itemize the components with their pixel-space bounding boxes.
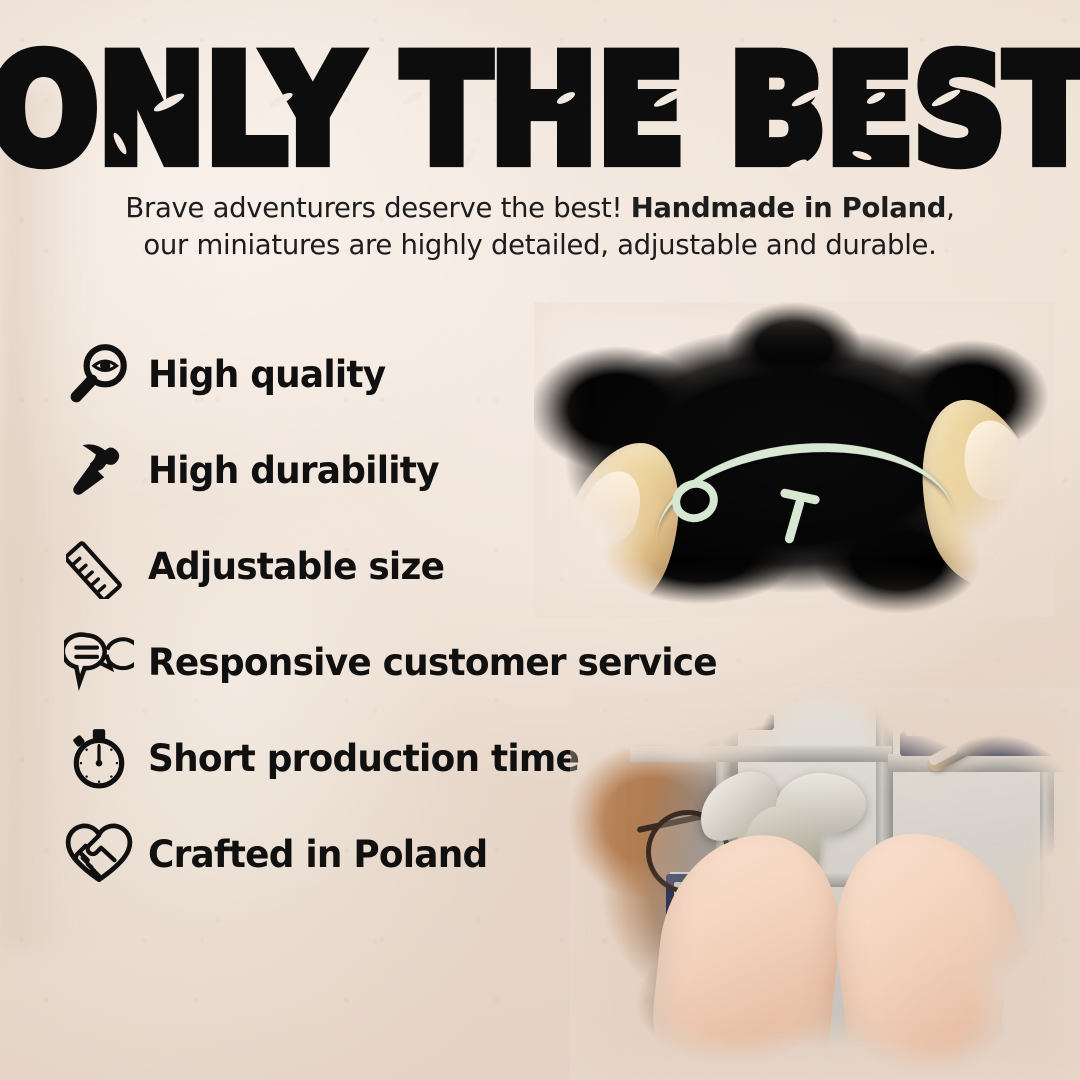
miniature-tray xyxy=(688,714,774,730)
stopwatch-icon xyxy=(62,721,136,795)
heart-handshake-icon xyxy=(62,817,136,891)
subtitle-lead: Brave adventurers deserve the best! xyxy=(125,192,630,224)
magnifier-eye-icon xyxy=(62,337,136,411)
speech-bubbles-icon xyxy=(62,625,136,699)
subtitle-emphasis: Handmade in Poland xyxy=(631,192,946,224)
poster-canvas: ONLY THE BEST Brave adventurers deserve … xyxy=(0,0,1080,1080)
feature-label: Short production time xyxy=(148,737,579,780)
flexible-miniature-photo xyxy=(534,302,1054,617)
workshop-painting-photo-image xyxy=(570,688,1080,1080)
feature-label: Responsive customer service xyxy=(148,641,717,684)
subtitle-tail: , xyxy=(946,192,954,224)
shelf-board xyxy=(888,754,1078,772)
feature-label: High durability xyxy=(148,449,439,492)
flexible-miniature-photo-image xyxy=(534,302,1054,617)
hammer-icon xyxy=(62,433,136,507)
feature-label: High quality xyxy=(148,353,385,396)
feature-label: Crafted in Poland xyxy=(148,833,487,876)
unpainted-miniature xyxy=(1002,992,1028,1044)
miniatures-row xyxy=(696,702,768,716)
subtitle-line2: our miniatures are highly detailed, adju… xyxy=(143,229,936,261)
headline-container: ONLY THE BEST xyxy=(0,36,1080,176)
page-title: ONLY THE BEST xyxy=(0,36,1080,185)
ruler-icon xyxy=(62,529,136,603)
subtitle: Brave adventurers deserve the best! Hand… xyxy=(0,190,1080,264)
feature-label: Adjustable size xyxy=(148,545,444,588)
shelf-board xyxy=(630,746,892,762)
workshop-painting-photo xyxy=(570,688,1080,1080)
